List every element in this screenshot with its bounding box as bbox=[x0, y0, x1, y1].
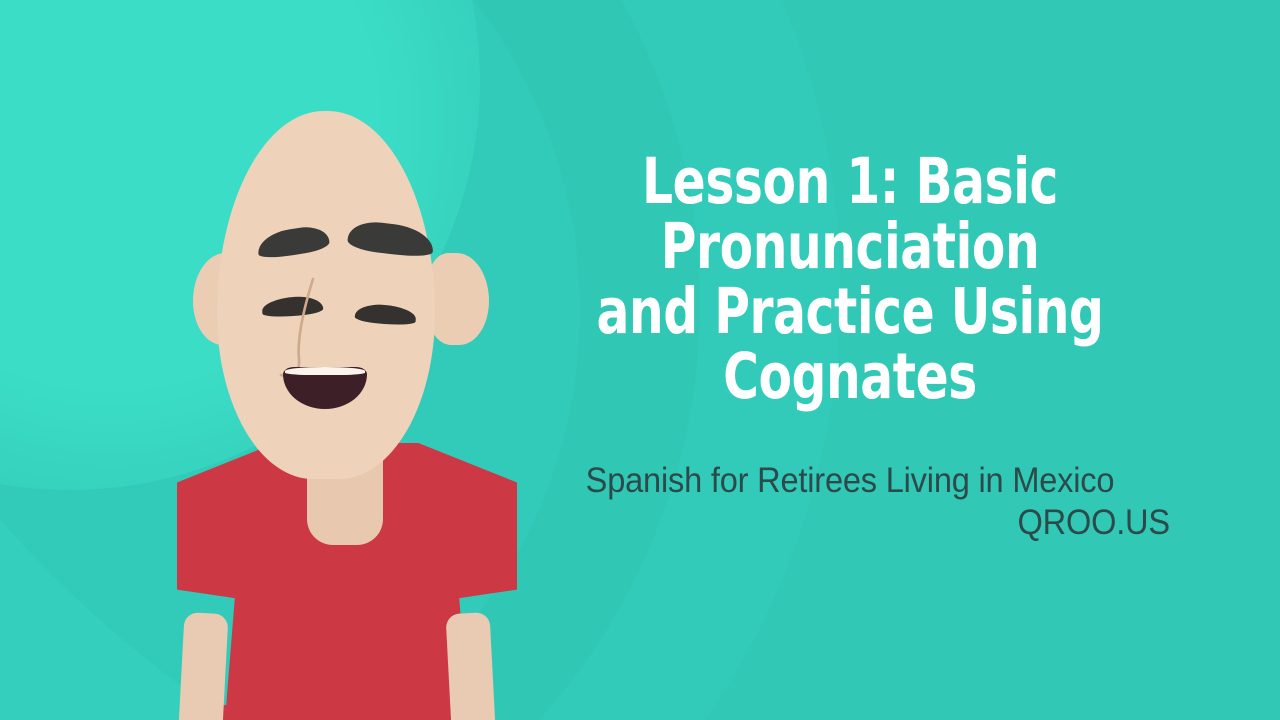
right-ear bbox=[427, 253, 489, 345]
shirt-lower-torso bbox=[200, 705, 490, 720]
title-slide: Lesson 1: Basic Pronunciation and Practi… bbox=[0, 0, 1280, 720]
cartoon-character-illustration bbox=[155, 105, 535, 720]
upper-teeth bbox=[285, 367, 365, 375]
slide-title: Lesson 1: Basic Pronunciation and Practi… bbox=[549, 150, 1151, 410]
slide-text-block: Lesson 1: Basic Pronunciation and Practi… bbox=[500, 150, 1200, 545]
subtitle-course-line: Spanish for Retirees Living in Mexico bbox=[525, 460, 1176, 503]
slide-subtitle: Spanish for Retirees Living in Mexico QR… bbox=[525, 460, 1176, 545]
left-arm bbox=[173, 612, 228, 720]
right-arm bbox=[445, 612, 500, 720]
subtitle-site-line: QROO.US bbox=[525, 502, 1176, 545]
